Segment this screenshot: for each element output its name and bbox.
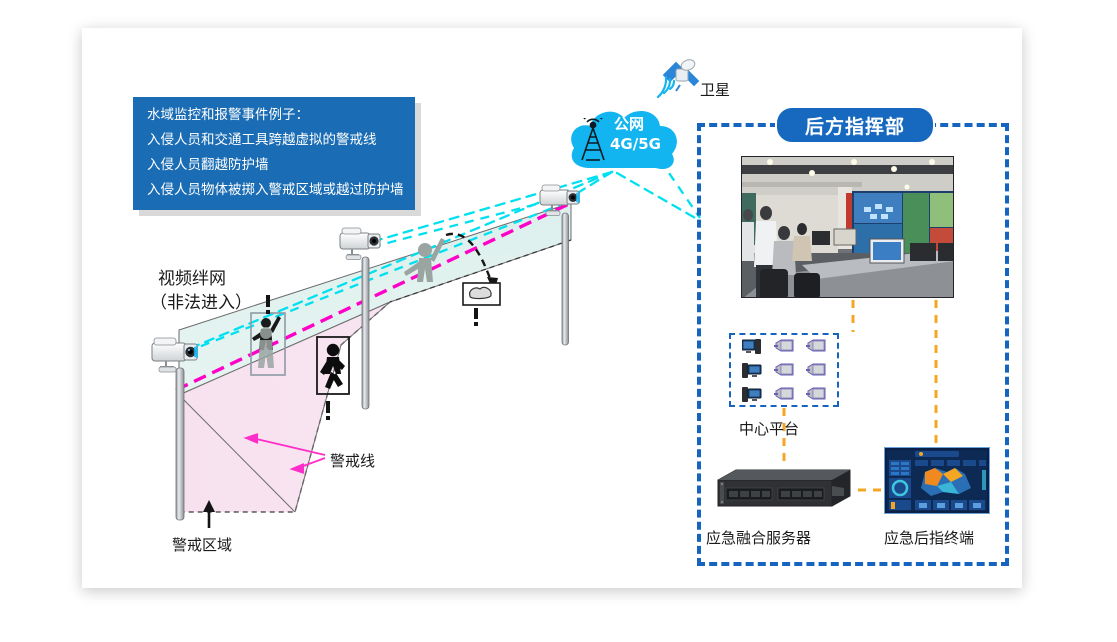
camera-pole-left — [176, 368, 184, 520]
server-device-icon — [774, 339, 794, 355]
server-label: 应急融合服务器 — [706, 527, 811, 548]
satellite-label: 卫星 — [700, 79, 730, 100]
server-device-icon — [806, 387, 826, 403]
info-line-2: 入侵人员和交通工具跨越虚拟的警戒线 — [133, 128, 415, 153]
rear-command-badge: 后方指挥部 — [775, 106, 935, 144]
center-platform-box — [729, 333, 839, 407]
desktop-computer-icon — [742, 363, 762, 380]
tripwire-label-line1: 视频绊网 — [158, 264, 226, 289]
camera-pole-middle — [362, 257, 369, 409]
event-examples-box: 水域监控和报警事件例子： 入侵人员和交通工具跨越虚拟的警戒线 入侵人员翻越防护墙… — [133, 97, 415, 210]
camera-middle — [340, 228, 380, 260]
public-network-cloud: 公网 4G/5G — [566, 104, 682, 176]
camera-pole-right — [562, 213, 569, 345]
thrown-object-box — [463, 283, 500, 305]
server-device-icon — [774, 363, 794, 379]
cell-tower-icon — [576, 118, 610, 162]
info-line-3: 入侵人员翻越防护墙 — [133, 153, 415, 178]
server-device-icon — [806, 363, 826, 379]
cloud-label-public: 公网 — [614, 113, 644, 134]
info-line-1: 水域监控和报警事件例子： — [133, 97, 415, 128]
emergency-terminal-display — [884, 447, 990, 514]
cloud-label-4g5g: 4G/5G — [610, 135, 661, 153]
platform-row — [731, 383, 837, 407]
server-device-icon — [774, 387, 794, 403]
center-platform-label: 中心平台 — [739, 418, 799, 439]
tripwire-label-line2: （非法进入） — [150, 288, 252, 313]
emergency-fusion-server — [712, 466, 853, 514]
alarm-mark-climber — [266, 295, 270, 314]
alarm-mark-intruder — [326, 401, 330, 420]
info-line-4: 入侵人员物体被掷入警戒区域或越过防护墙 — [133, 178, 415, 203]
control-room-photo — [741, 156, 954, 298]
platform-row — [731, 335, 837, 359]
alert-line-label: 警戒线 — [330, 450, 375, 471]
alert-area-label: 警戒区域 — [172, 534, 232, 555]
server-device-icon — [806, 339, 826, 355]
desktop-computer-icon — [742, 339, 762, 356]
terminal-label: 应急后指终端 — [884, 527, 974, 548]
alarm-mark-thrown — [474, 308, 478, 326]
desktop-computer-icon — [742, 387, 762, 404]
satellite-icon — [658, 58, 700, 97]
diagram-canvas: 水域监控和报警事件例子： 入侵人员和交通工具跨越虚拟的警戒线 入侵人员翻越防护墙… — [0, 0, 1117, 642]
platform-row — [731, 359, 837, 383]
